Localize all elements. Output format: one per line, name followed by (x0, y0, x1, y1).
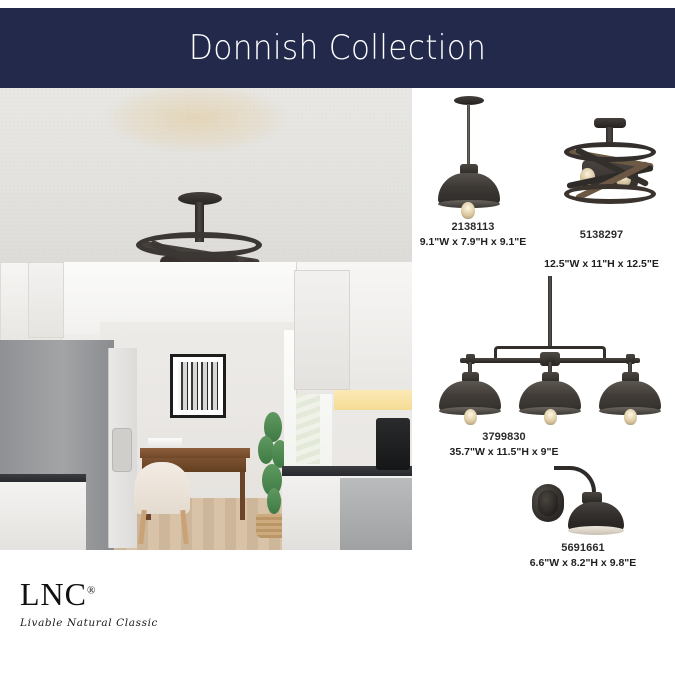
cage-ring-bottom (564, 184, 656, 204)
desk-top (140, 448, 250, 458)
bulb-icon (461, 202, 475, 219)
kitchen-scene (0, 262, 412, 550)
product-sku: 2138113 (418, 220, 528, 235)
upper-cabinet-left-2 (28, 262, 64, 338)
cage-ring-top (136, 232, 262, 258)
cactus-pad (267, 488, 281, 514)
collection-title-banner: Donnish Collection (0, 8, 675, 88)
pendant-rod (467, 104, 470, 166)
lifestyle-photo (0, 88, 412, 550)
books-stack (148, 438, 182, 448)
shade-lip (568, 526, 624, 535)
cage-ring-top (564, 142, 656, 162)
product-caption-5138297: 5138297 12.5"W x 11"H x 12.5"E (528, 228, 675, 271)
product-caption-5691661: 5691661 6.6"W x 8.2"H x 9.8"E (498, 541, 668, 570)
range-stove (340, 478, 412, 550)
bulb-icon (544, 409, 557, 425)
product-image-wall-sconce (530, 462, 640, 540)
product-dimensions: 9.1"W x 7.9"H x 9.1"E (418, 235, 528, 249)
artwork-print (178, 362, 218, 410)
product-dimensions: 6.6"W x 8.2"H x 9.8"E (498, 556, 668, 570)
coffee-maker (376, 418, 410, 470)
product-image-island-light (438, 276, 662, 426)
under-cabinet-light (334, 390, 412, 410)
product-sku: 3799830 (418, 430, 590, 445)
framed-artwork (170, 354, 226, 418)
base-cabinet-left (0, 482, 86, 550)
cage-drum (564, 142, 656, 204)
island-drop-rod (548, 276, 552, 348)
upper-cabinet-right-2 (294, 270, 350, 390)
logo-wordmark: LNC® (20, 578, 180, 610)
product-dimensions: 35.7"W x 11.5"H x 9"E (418, 445, 590, 459)
product-dimensions: 12.5"W x 11"H x 12.5"E (528, 257, 675, 271)
water-dispenser (112, 428, 132, 472)
bulb-icon (464, 409, 477, 425)
product-caption-3799830: 3799830 35.7"W x 11.5"H x 9"E (418, 430, 590, 459)
page-title: Donnish Collection (189, 28, 486, 68)
bulb-icon (624, 409, 637, 425)
logo-text: LNC (20, 576, 87, 612)
desk-chair (134, 462, 190, 514)
product-sku: 5138297 (528, 228, 675, 243)
registered-mark: ® (87, 584, 96, 596)
product-sku: 5691661 (498, 541, 668, 556)
product-image-pendant (432, 96, 506, 214)
desk-leg (240, 472, 245, 520)
product-caption-2138113: 2138113 9.1"W x 7.9"H x 9.1"E (418, 220, 528, 249)
brand-logo: LNC® Livable Natural Classic (20, 578, 180, 640)
product-image-semi-flush (556, 118, 664, 214)
product-collection-sheet: Donnish Collection (0, 0, 675, 675)
logo-tagline: Livable Natural Classic (20, 617, 180, 629)
